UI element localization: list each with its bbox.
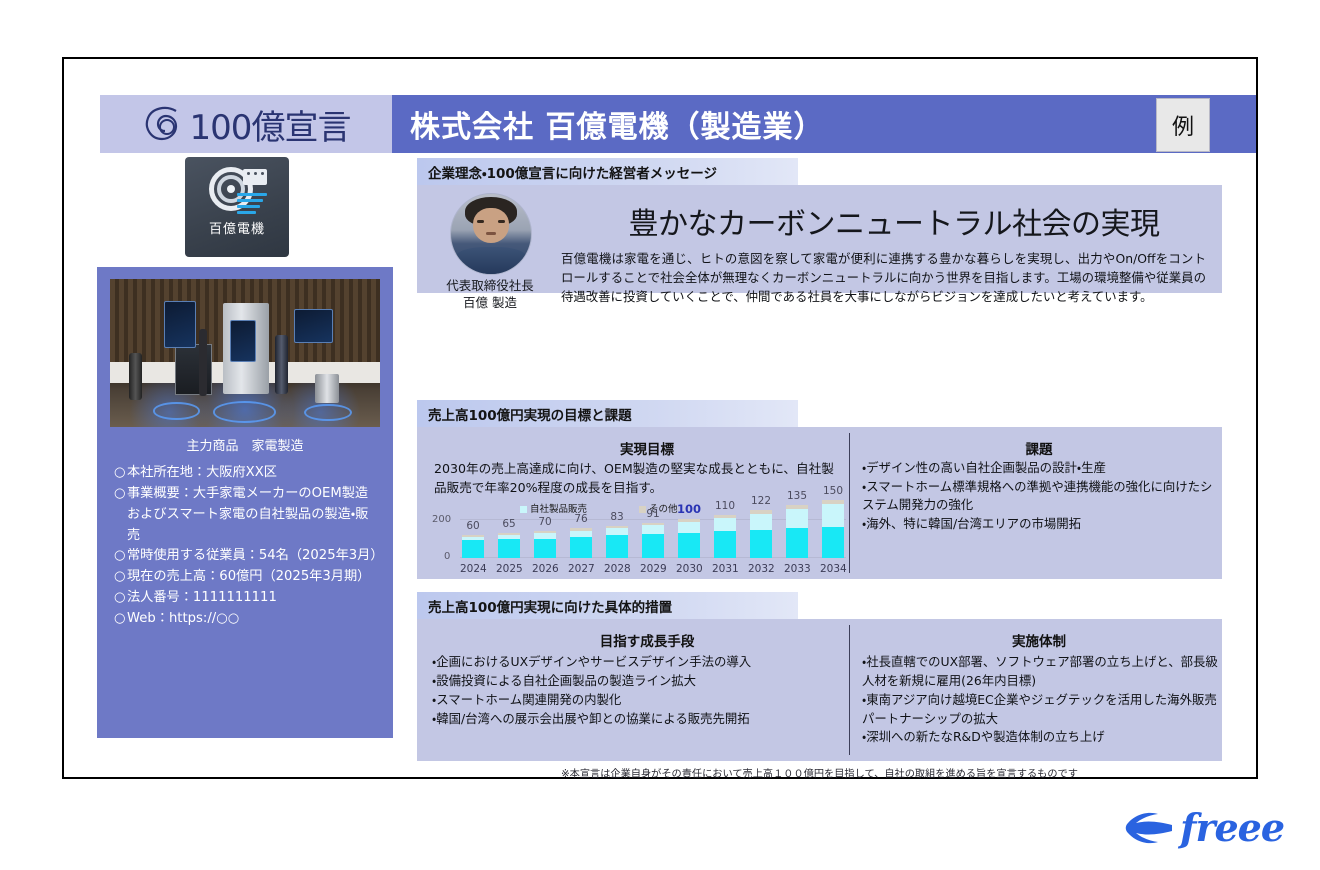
org-item: ・深圳への新たなR&Dや製造体制の立ち上げ <box>862 728 1222 747</box>
issue-item: ・海外、特に韓国/台湾エリアの市場開拓 <box>862 515 1222 534</box>
chart-bar-stack <box>822 500 844 558</box>
means-item: ・スマートホーム関連開発の内製化 <box>432 691 837 710</box>
chart-x-tick: 2028 <box>604 563 630 575</box>
executive-role: 代表取締役社長 <box>432 278 548 295</box>
chart-bar-value-label: 70 <box>538 516 551 528</box>
chart-x-tick: 2033 <box>784 563 810 575</box>
chart-plot-area: 606570768391100110122135150 <box>460 519 846 558</box>
section-heading-goals-label: 売上高100億円実現の目標と課題 <box>428 404 632 424</box>
chart-bar-segment <box>642 534 664 558</box>
section-heading-goals: 売上高100億円実現の目標と課題 <box>417 400 798 427</box>
revenue-forecast-chart: 自社製品販売その他 200 0 606570768391100110122135… <box>432 503 846 575</box>
issue-list: ・デザイン性の高い自社企画製品の設計・生産・スマートホーム標準規格への準拠や連携… <box>862 459 1222 533</box>
section-heading-measures-label: 売上高100億円実現に向けた具体的措置 <box>428 596 672 616</box>
company-fact-item: 本社所在地：大阪府XX区 <box>114 463 380 484</box>
chart-x-tick: 2034 <box>820 563 846 575</box>
means-item: ・韓国/台湾への展示会出展や卸との協業による販売先開拓 <box>432 710 837 729</box>
program-logo-wordmark: 100億宣言 <box>142 100 351 149</box>
company-fact-item: 常時使用する従業員：54名（2025年3月） <box>114 546 380 567</box>
measures-column-divider <box>849 625 850 755</box>
means-item: ・企画におけるUXデザインやサービスデザイン手法の導入 <box>432 653 837 672</box>
chart-bar-value-label: 150 <box>823 485 843 497</box>
title-bar: 株式会社 百億電機（製造業） <box>392 95 1256 153</box>
section-heading-message: 企業理念・100億宣言に向けた経営者メッセージ <box>417 158 798 185</box>
chart-x-tick: 2032 <box>748 563 774 575</box>
chart-bar-value-label: 60 <box>466 520 479 532</box>
spiral-icon <box>142 104 186 144</box>
chart-bar-stack <box>462 535 484 558</box>
chart-bar-segment <box>714 518 736 531</box>
chart-bar: 100 <box>676 519 702 558</box>
freee-wordmark: freee <box>1180 809 1284 847</box>
org-list: ・社長直轄でのUX部署、ソフトウェア部署の立ち上げと、部長級人材を新規に雇用(2… <box>862 653 1222 747</box>
chart-bar: 150 <box>820 519 846 558</box>
chart-x-tick: 2024 <box>460 563 486 575</box>
chart-bar-segment <box>678 522 700 533</box>
avatar <box>450 193 532 275</box>
chart-y-max-label: 200 <box>432 514 451 525</box>
section-heading-measures: 売上高100億円実現に向けた具体的措置 <box>417 592 798 619</box>
issue-item: ・デザイン性の高い自社企画製品の設計・生産 <box>862 459 1222 478</box>
company-facts: 本社所在地：大阪府XX区事業概要：大手家電メーカーのOEM製造およびスマート家電… <box>114 463 380 630</box>
company-info-panel: 主力商品 家電製造 本社所在地：大阪府XX区事業概要：大手家電メーカーのOEM製… <box>97 267 393 738</box>
chart-x-tick: 2026 <box>532 563 558 575</box>
chart-bar-stack <box>786 505 808 558</box>
chart-bar-stack <box>678 519 700 558</box>
executive-caption: 代表取締役社長 百億 製造 <box>432 278 548 312</box>
chart-bar-stack <box>642 523 664 558</box>
chart-bar-segment <box>786 509 808 529</box>
chart-bar: 76 <box>568 519 594 558</box>
org-item: ・社長直轄でのUX部署、ソフトウェア部署の立ち上げと、部長級人材を新規に雇用(2… <box>862 653 1222 691</box>
chart-bar-value-label: 100 <box>677 502 701 516</box>
chart-bar-segment <box>750 514 772 530</box>
chart-bar-segment <box>786 528 808 558</box>
chart-bar: 122 <box>748 519 774 558</box>
org-item: ・東南アジア向け越境EC企業やジェグテックを活用した海外販売パートナーシップの拡… <box>862 691 1222 729</box>
company-logo: 百億電機 <box>185 157 289 257</box>
section-heading-message-label: 企業理念・100億宣言に向けた経営者メッセージ <box>428 162 717 182</box>
slide-page: 100億宣言 株式会社 百億電機（製造業） 例 百億電機 主力商品 <box>0 0 1320 870</box>
chart-bar-stack <box>606 526 628 558</box>
chart-bar-segment <box>678 533 700 558</box>
chart-bar-segment <box>714 531 736 558</box>
issue-item: ・スマートホーム標準規格への準拠や連携機能の強化に向けたシステム開発力の強化 <box>862 478 1222 515</box>
chart-bar-segment <box>642 525 664 534</box>
message-body: 百億電機は家電を通じ、ヒトの意図を察して家電が便利に連携する豊かな暮らしを実現し… <box>561 249 1206 307</box>
chart-bar: 65 <box>496 519 522 558</box>
chart-bar-segment <box>498 539 520 558</box>
chart-x-tick: 2027 <box>568 563 594 575</box>
goal-description: 2030年の売上高達成に向け、OEM製造の堅実な成長とともに、自社製品販売で年率… <box>434 460 844 498</box>
example-badge: 例 <box>1156 98 1210 152</box>
chart-bar-value-label: 76 <box>574 513 587 525</box>
page-title: 株式会社 百億電機（製造業） <box>410 102 824 146</box>
chart-bar-stack <box>498 533 520 558</box>
chart-bar: 83 <box>604 519 630 558</box>
chart-bar-segment <box>750 530 772 558</box>
chart-bar-segment <box>462 540 484 558</box>
chart-bar-value-label: 122 <box>751 495 771 507</box>
appliance-target-icon <box>207 163 267 215</box>
chart-bar-stack <box>570 528 592 558</box>
chart-bar-segment <box>606 535 628 558</box>
company-fact-item: 法人番号：1111111111 <box>114 588 380 609</box>
chart-bar-value-label: 135 <box>787 490 807 502</box>
chart-bar: 135 <box>784 519 810 558</box>
chart-bar: 70 <box>532 519 558 558</box>
company-fact-item: 現在の売上高：60億円（2025年3月期） <box>114 567 380 588</box>
chart-x-tick: 2029 <box>640 563 666 575</box>
chart-bar-segment <box>606 528 628 535</box>
goal-column-title: 実現目標 <box>462 438 832 458</box>
chart-bar-segment <box>570 537 592 558</box>
goals-column-divider <box>849 433 850 573</box>
chart-bar-value-label: 91 <box>646 508 659 520</box>
product-caption: 主力商品 家電製造 <box>97 435 393 454</box>
program-logo-text: 100億宣言 <box>190 100 351 149</box>
executive-name: 百億 製造 <box>432 295 548 312</box>
declaration-slide: 100億宣言 株式会社 百億電機（製造業） 例 百億電機 主力商品 <box>62 57 1258 779</box>
chart-bar: 91 <box>640 519 666 558</box>
freee-brand-logo: freee <box>1122 808 1284 848</box>
freee-bird-icon <box>1122 808 1178 848</box>
company-fact-item: 事業概要：大手家電メーカーのOEM製造およびスマート家電の自社製品の製造・販売 <box>114 484 380 547</box>
company-fact-item: Web：https://○○ <box>114 609 380 630</box>
chart-x-axis: 2024202520262027202820292030203120322033… <box>460 563 846 575</box>
chart-y-min-label: 0 <box>444 551 450 562</box>
chart-bar-value-label: 110 <box>715 500 735 512</box>
chart-bar: 60 <box>460 519 486 558</box>
program-logo-bar: 100億宣言 <box>100 95 392 153</box>
means-item: ・設備投資による自社企画製品の製造ライン拡大 <box>432 672 837 691</box>
chart-bar-value-label: 65 <box>502 518 515 530</box>
chart-x-tick: 2025 <box>496 563 522 575</box>
vision-statement: 豊かなカーボンニュートラル社会の実現 <box>584 199 1204 243</box>
chart-bar-segment <box>534 539 556 559</box>
chart-bar-stack <box>750 510 772 558</box>
chart-x-tick: 2031 <box>712 563 738 575</box>
chart-bar-stack <box>714 515 736 558</box>
org-column-title: 実施体制 <box>864 630 1214 650</box>
issue-column-title: 課題 <box>864 438 1214 458</box>
chart-bar-segment <box>822 504 844 527</box>
product-photo <box>110 279 380 427</box>
means-column-title: 目指す成長手段 <box>462 630 832 650</box>
company-logo-name: 百億電機 <box>209 218 265 237</box>
chart-bar: 110 <box>712 519 738 558</box>
chart-bar-value-label: 83 <box>610 511 623 523</box>
footnote: ※本宣言は企業自身がその責任において売上高１００億円を目指して、自社の取組を進め… <box>417 765 1222 780</box>
means-list: ・企画におけるUXデザインやサービスデザイン手法の導入・設備投資による自社企画製… <box>432 653 837 728</box>
chart-bar-stack <box>534 531 556 558</box>
chart-x-tick: 2030 <box>676 563 702 575</box>
chart-bar-segment <box>822 527 844 558</box>
